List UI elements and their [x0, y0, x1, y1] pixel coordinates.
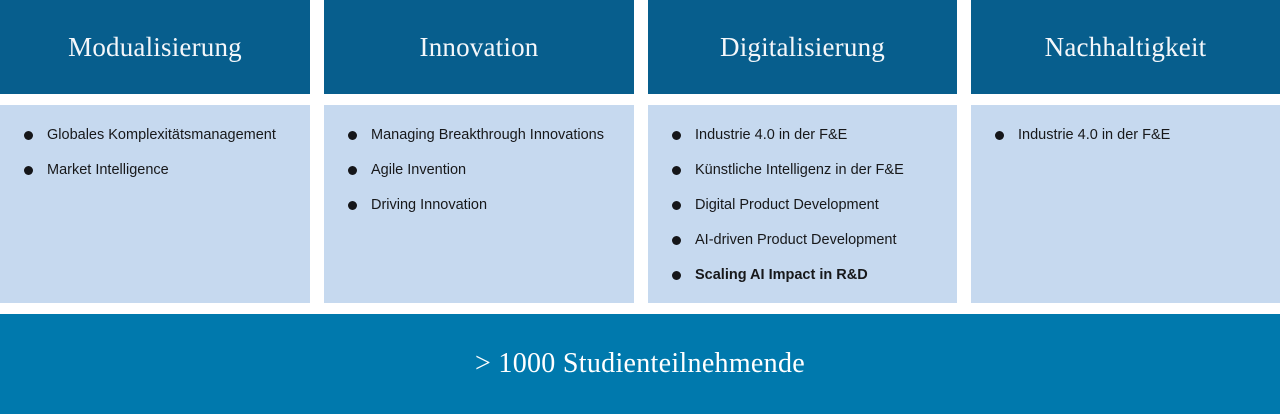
- column-header-nachhaltigkeit: Nachhaltigkeit: [971, 0, 1280, 94]
- column-header-digitalisierung: Digitalisierung: [648, 0, 957, 94]
- list-item-label: Managing Breakthrough Innovations: [371, 127, 622, 144]
- column-body-innovation: Managing Breakthrough Innovations Agile …: [324, 105, 634, 303]
- bullet-dot-icon: [672, 131, 681, 140]
- bullet-dot-icon: [24, 166, 33, 175]
- bullet-dot-icon: [348, 131, 357, 140]
- list-item[interactable]: Globales Komplexitätsmanagement: [12, 127, 298, 144]
- list-item[interactable]: Agile Invention: [336, 162, 622, 179]
- list-item-label: Digital Product Development: [695, 197, 945, 214]
- column-body-digitalisierung: Industrie 4.0 in der F&E Künstliche Inte…: [648, 105, 957, 303]
- topic-overview-board: Modualisierung Globales Komplexitätsmana…: [0, 0, 1280, 414]
- topic-columns: Modualisierung Globales Komplexitätsmana…: [0, 0, 1280, 303]
- bullet-dot-icon: [995, 131, 1004, 140]
- list-item-label: Driving Innovation: [371, 197, 622, 214]
- list-item-label: AI-driven Product Development: [695, 232, 945, 249]
- list-item[interactable]: Market Intelligence: [12, 162, 298, 179]
- bullet-dot-icon: [348, 166, 357, 175]
- list-item-label: Industrie 4.0 in der F&E: [695, 127, 945, 144]
- list-item[interactable]: Managing Breakthrough Innovations: [336, 127, 622, 144]
- bullet-dot-icon: [672, 166, 681, 175]
- participants-banner: > 1000 Studienteilnehmende: [0, 314, 1280, 414]
- list-item-label: Market Intelligence: [47, 162, 298, 179]
- topic-column-digitalisierung: Digitalisierung Industrie 4.0 in der F&E…: [648, 0, 957, 303]
- bullet-dot-icon: [348, 201, 357, 210]
- column-body-modualisierung: Globales Komplexitätsmanagement Market I…: [0, 105, 310, 303]
- column-header-innovation: Innovation: [324, 0, 634, 94]
- topic-column-nachhaltigkeit: Nachhaltigkeit Industrie 4.0 in der F&E: [971, 0, 1280, 303]
- bullet-dot-icon: [672, 236, 681, 245]
- list-item-highlighted[interactable]: Scaling AI Impact in R&D: [660, 267, 945, 284]
- column-body-nachhaltigkeit: Industrie 4.0 in der F&E: [971, 105, 1280, 303]
- list-item-label: Scaling AI Impact in R&D: [695, 267, 945, 284]
- list-item-label: Industrie 4.0 in der F&E: [1018, 127, 1268, 144]
- topic-list-modualisierung: Globales Komplexitätsmanagement Market I…: [12, 127, 298, 179]
- topic-list-innovation: Managing Breakthrough Innovations Agile …: [336, 127, 622, 214]
- list-item[interactable]: Industrie 4.0 in der F&E: [660, 127, 945, 144]
- list-item[interactable]: Digital Product Development: [660, 197, 945, 214]
- list-item[interactable]: Künstliche Intelligenz in der F&E: [660, 162, 945, 179]
- topic-column-modualisierung: Modualisierung Globales Komplexitätsmana…: [0, 0, 310, 303]
- list-item[interactable]: Driving Innovation: [336, 197, 622, 214]
- participants-banner-text: > 1000 Studienteilnehmende: [475, 348, 805, 380]
- bullet-dot-icon: [24, 131, 33, 140]
- bullet-dot-icon: [672, 201, 681, 210]
- list-item[interactable]: AI-driven Product Development: [660, 232, 945, 249]
- topic-list-nachhaltigkeit: Industrie 4.0 in der F&E: [983, 127, 1268, 144]
- list-item-label: Künstliche Intelligenz in der F&E: [695, 162, 945, 179]
- list-item[interactable]: Industrie 4.0 in der F&E: [983, 127, 1268, 144]
- topic-list-digitalisierung: Industrie 4.0 in der F&E Künstliche Inte…: [660, 127, 945, 284]
- list-item-label: Agile Invention: [371, 162, 622, 179]
- list-item-label: Globales Komplexitätsmanagement: [47, 127, 298, 144]
- bullet-dot-icon: [672, 271, 681, 280]
- column-header-modualisierung: Modualisierung: [0, 0, 310, 94]
- topic-column-innovation: Innovation Managing Breakthrough Innovat…: [324, 0, 634, 303]
